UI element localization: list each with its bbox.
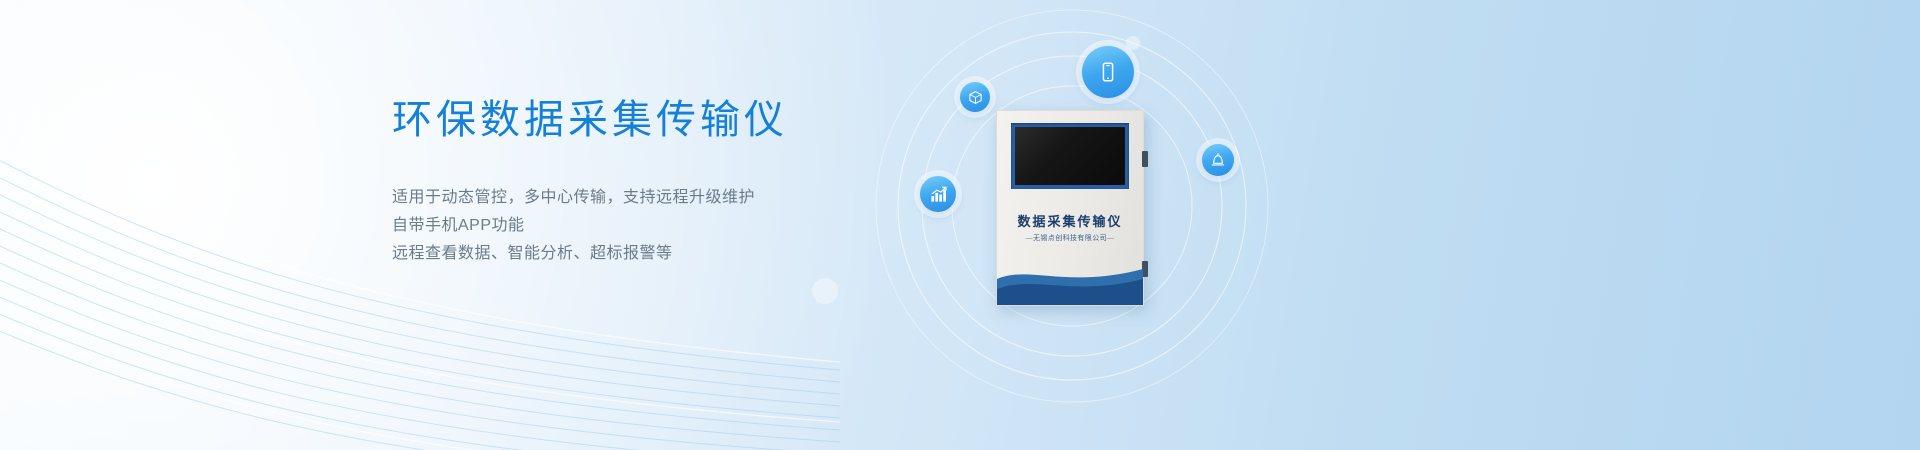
product-banner: 环保数据采集传输仪 适用于动态管控，多中心传输，支持远程升级维护 自带手机APP… <box>0 0 1920 450</box>
device-hinge <box>1142 151 1148 167</box>
data-acquisition-device: 数据采集传输仪 —无锡点创科技有限公司— <box>996 110 1144 306</box>
banner-copy: 环保数据采集传输仪 适用于动态管控，多中心传输，支持远程升级维护 自带手机APP… <box>392 96 912 268</box>
device-screen <box>1015 127 1125 185</box>
alarm-icon-badge[interactable] <box>1202 144 1234 176</box>
alarm-icon <box>1210 152 1226 168</box>
decorative-dot <box>812 278 838 304</box>
page-title: 环保数据采集传输仪 <box>392 96 912 144</box>
feature-line-3: 远程查看数据、智能分析、超标报警等 <box>392 240 912 268</box>
feature-line-2: 自带手机APP功能 <box>392 212 912 240</box>
phone-icon-badge[interactable] <box>1082 46 1134 98</box>
product-visual: 数据采集传输仪 —无锡点创科技有限公司— <box>860 0 1420 450</box>
feature-line-1: 适用于动态管控，多中心传输，支持远程升级维护 <box>392 184 912 212</box>
box-icon <box>968 90 983 105</box>
box-icon-badge[interactable] <box>960 82 990 112</box>
device-footer-wave <box>997 259 1143 305</box>
device-company-text: —无锡点创科技有限公司— <box>997 233 1143 243</box>
phone-icon <box>1097 61 1119 83</box>
chart-icon <box>929 185 948 204</box>
device-screen-bezel <box>1011 123 1129 189</box>
feature-list: 适用于动态管控，多中心传输，支持远程升级维护 自带手机APP功能 远程查看数据、… <box>392 184 912 268</box>
device-brand-text: 数据采集传输仪 <box>997 211 1143 230</box>
chart-icon-badge[interactable] <box>920 176 956 212</box>
